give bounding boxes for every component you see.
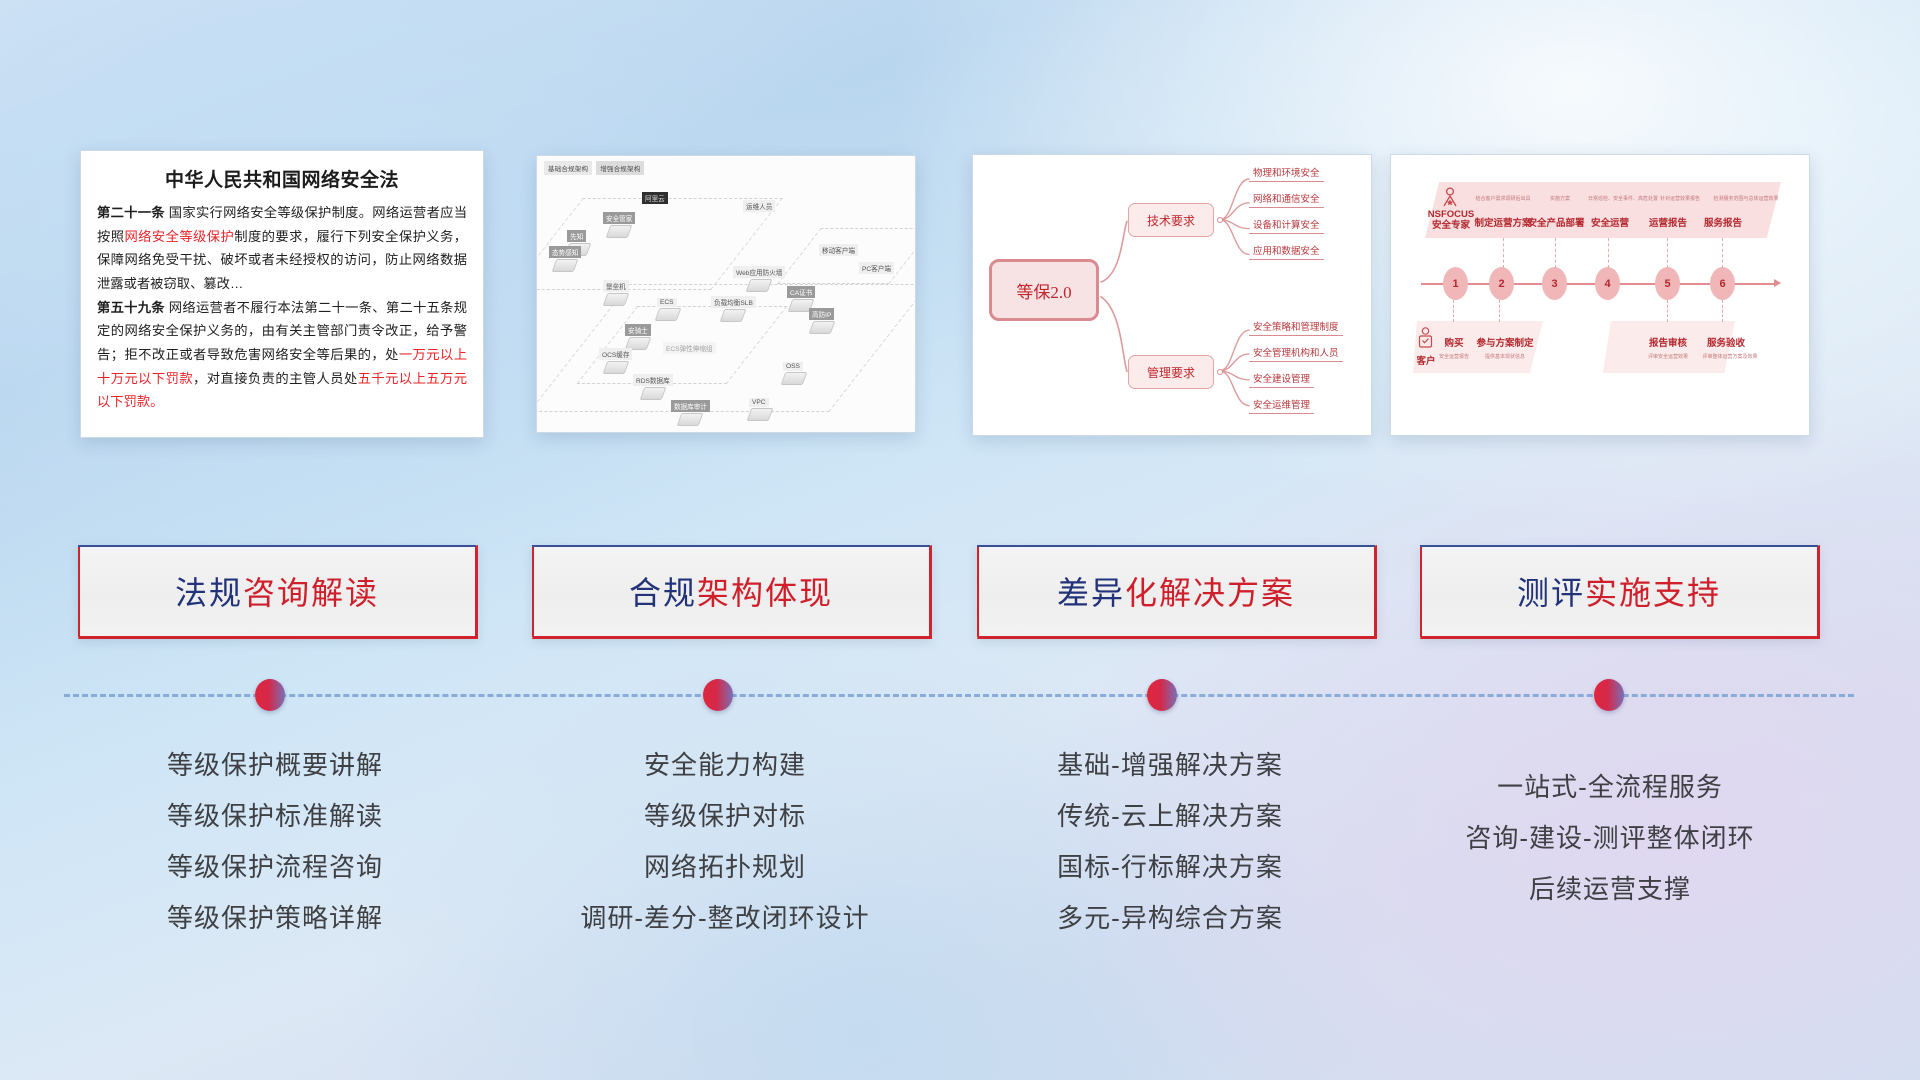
arch-node-pc-client: PC客户端: [859, 262, 894, 274]
nsfocus-dash-c2: [1499, 300, 1500, 322]
arch-tab-basic[interactable]: 基础合规架构: [544, 161, 592, 175]
list-item: 基础-增强解决方案: [950, 740, 1390, 791]
mindmap-diagram: 等保2.0 技术要求 管理要求 物理和环境安全 网络和通信安全 设备和计算安全 …: [973, 155, 1371, 435]
banner-4-red: 实施支持: [1585, 575, 1721, 611]
detail-list-column-4: 一站式-全流程服务 咨询-建设-测评整体闭环 后续运营支撑: [1390, 762, 1830, 915]
banner-1-text: 法规咨询解读: [175, 568, 379, 614]
mindmap-branch-management: 管理要求: [1128, 355, 1214, 389]
nsfocus-diagram: NSFOCUS安全专家 客户 1 2 3 4 5 6: [1391, 155, 1809, 435]
nsfocus-caption-6: 服务报告: [1694, 215, 1752, 229]
nsfocus-customer-caption-2: 参与方案制定: [1467, 335, 1543, 349]
banner-1-blue: 法规: [175, 575, 243, 611]
list-item: 等级保护策略详解: [55, 893, 495, 944]
nsfocus-customer-sub-1: 安全运营报告: [1431, 353, 1477, 360]
arch-node-anqishi: 安骑士: [625, 324, 651, 350]
banner-regulation-consulting[interactable]: 法规咨询解读: [78, 545, 478, 639]
arch-node-slb: 负载均衡SLB: [711, 296, 756, 322]
nsfocus-step-node-4: 4: [1595, 267, 1620, 300]
law-paragraph-2: 第五十九条 网络运营者不履行本法第二十一条、第二十五条规定的网络安全保护义务的，…: [97, 296, 467, 414]
card-cloud-architecture: 基础合规架构 增强合规架构 阿里云 安全管家 先知 态势感知 堡垒机: [536, 155, 916, 433]
detail-list-column-2: 安全能力构建 等级保护对标 网络拓扑规划 调研-差分-整改闭环设计: [505, 740, 945, 944]
law-title: 中华人民共和国网络安全法: [97, 165, 467, 192]
nsfocus-expert-band: [1425, 182, 1781, 238]
card-nsfocus-timeline: NSFOCUS安全专家 客户 1 2 3 4 5 6: [1390, 154, 1810, 436]
mindmap-leaf-t1: 物理和环境安全: [1249, 165, 1324, 182]
nsfocus-dash-2: [1503, 238, 1504, 268]
architecture-diagram: 基础合规架构 增强合规架构 阿里云 安全管家 先知 态势感知 堡垒机: [537, 156, 915, 432]
nsfocus-step-node-1: 1: [1443, 267, 1468, 300]
list-item: 传统-云上解决方案: [950, 791, 1390, 842]
banner-row: 法规咨询解读 合规架构体现 差异化解决方案 测评实施支持: [0, 545, 1920, 655]
banner-compliance-architecture[interactable]: 合规架构体现: [532, 545, 932, 639]
nsfocus-step-node-5: 5: [1655, 267, 1680, 300]
list-item: 等级保护流程咨询: [55, 842, 495, 893]
mindmap-leaf-t4: 应用和数据安全: [1249, 243, 1324, 260]
arch-node-ecs-scaling-group: ECS弹性伸缩组: [663, 342, 716, 354]
list-item: 等级保护标准解读: [55, 791, 495, 842]
law-seg-2-2: ，对直接负责的主管人员处: [193, 371, 358, 386]
timeline-dot-4[interactable]: [1594, 679, 1624, 711]
list-item: 网络拓扑规划: [505, 842, 945, 893]
customer-person-icon: [1417, 327, 1434, 353]
list-item: 一站式-全流程服务: [1390, 762, 1830, 813]
arch-node-mobile-client: 移动客户端: [819, 244, 858, 256]
mindmap-leaf-t3: 设备和计算安全: [1249, 217, 1324, 234]
banner-1-red: 咨询解读: [243, 575, 379, 611]
timeline-dot-1[interactable]: [255, 679, 285, 711]
detail-list-row: 等级保护概要讲解 等级保护标准解读 等级保护流程咨询 等级保护策略详解 安全能力…: [0, 740, 1920, 1040]
law-article-label-1: 第二十一条: [97, 205, 165, 220]
nsfocus-step-node-2: 2: [1489, 267, 1514, 300]
image-card-row: 中华人民共和国网络安全法 第二十一条 国家实行网络安全等级保护制度。网络运营者应…: [0, 150, 1920, 450]
arch-node-situation-awareness: 态势感知: [549, 246, 581, 272]
nsfocus-customer-sub-2: 提供基本现状信息: [1473, 353, 1537, 360]
detail-list-column-3: 基础-增强解决方案 传统-云上解决方案 国标-行标解决方案 多元-异构综合方案: [950, 740, 1390, 944]
nsfocus-axis-arrow-icon: [1774, 279, 1781, 287]
nsfocus-dash-6: [1722, 238, 1723, 268]
list-item: 安全能力构建: [505, 740, 945, 791]
detail-list-column-1: 等级保护概要讲解 等级保护标准解读 等级保护流程咨询 等级保护策略详解: [55, 740, 495, 944]
list-item: 国标-行标解决方案: [950, 842, 1390, 893]
arch-node-bastion-host: 堡垒机: [603, 280, 629, 306]
nsfocus-caption-4: 安全运营: [1581, 215, 1639, 229]
mindmap-collapse-dot-management[interactable]: [1217, 369, 1223, 375]
banner-3-red: 化解决方案: [1125, 575, 1295, 611]
arch-node-cloud: 阿里云: [642, 192, 668, 204]
nsfocus-sub-6: 检测服务范围与总体运营效果: [1691, 195, 1801, 202]
arch-node-ops-staff: 运维人员: [743, 200, 775, 212]
arch-node-vpc: VPC: [749, 398, 771, 421]
law-article-label-2: 第五十九条: [97, 300, 165, 315]
banner-2-blue: 合规: [629, 575, 697, 611]
banner-4-blue: 测评: [1517, 575, 1585, 611]
mindmap-leaf-m2: 安全管理机构和人员: [1249, 345, 1343, 362]
nsfocus-customer-caption-4: 服务验收: [1695, 335, 1757, 349]
law-paragraph-1: 第二十一条 国家实行网络安全等级保护制度。网络运营者应当按照网络安全等级保护制度…: [97, 201, 467, 296]
timeline-dashed-track: [64, 694, 1854, 697]
card-mind-map: 等保2.0 技术要求 管理要求 物理和环境安全 网络和通信安全 设备和计算安全 …: [972, 154, 1372, 436]
nsfocus-caption-5: 运营报告: [1639, 215, 1697, 229]
nsfocus-dash-c4: [1722, 300, 1723, 322]
mindmap-collapse-dot-technical[interactable]: [1217, 217, 1223, 223]
list-item: 调研-差分-整改闭环设计: [505, 893, 945, 944]
nsfocus-dash-c3: [1667, 300, 1668, 322]
architecture-tabs: 基础合规架构 增强合规架构: [544, 161, 644, 175]
timeline-dot-3[interactable]: [1147, 679, 1177, 711]
mindmap-leaf-m4: 安全运维管理: [1249, 397, 1314, 414]
arch-node-security-butler: 安全管家: [603, 212, 635, 238]
arch-node-oss: OSS: [783, 362, 805, 385]
nsfocus-dash-5: [1667, 238, 1668, 268]
banner-3-text: 差异化解决方案: [1057, 568, 1295, 614]
nsfocus-dash-3: [1555, 238, 1556, 268]
nsfocus-customer-sub-4: 评审整体运营方案及效果: [1691, 353, 1769, 360]
list-item: 等级保护对标: [505, 791, 945, 842]
card-law-text: 中华人民共和国网络安全法 第二十一条 国家实行网络安全等级保护制度。网络运营者应…: [80, 150, 484, 438]
arch-node-ecs: ECS: [657, 298, 679, 321]
mindmap-leaf-m3: 安全建设管理: [1249, 371, 1314, 388]
nsfocus-step-node-3: 3: [1542, 267, 1567, 300]
law-seg-1-1: 网络安全等级保护: [124, 229, 234, 244]
list-item: 咨询-建设-测评整体闭环: [1390, 813, 1830, 864]
arch-node-ocs-cache: OCS缓存: [599, 348, 632, 374]
banner-evaluation-support[interactable]: 测评实施支持: [1420, 545, 1820, 639]
timeline-dot-2[interactable]: [703, 679, 733, 711]
nsfocus-customer-caption-3: 报告审核: [1637, 335, 1699, 349]
list-item: 后续运营支撑: [1390, 864, 1830, 915]
list-item: 等级保护概要讲解: [55, 740, 495, 791]
list-item: 多元-异构综合方案: [950, 893, 1390, 944]
banner-3-blue: 差异: [1057, 575, 1125, 611]
arch-tab-enhanced[interactable]: 增强合规架构: [596, 161, 644, 175]
nsfocus-step-node-6: 6: [1710, 267, 1735, 300]
arch-node-rds: RDS数据库: [633, 374, 673, 400]
banner-2-red: 架构体现: [697, 575, 833, 611]
arch-node-waf: Web应用防火墙: [733, 266, 785, 292]
arch-node-db-audit: 数据库审计: [671, 400, 710, 426]
nsfocus-dash-c1: [1453, 300, 1454, 322]
mindmap-leaf-t2: 网络和通信安全: [1249, 191, 1324, 208]
mindmap-leaf-m1: 安全策略和管理制度: [1249, 319, 1343, 336]
banner-differentiated-solution[interactable]: 差异化解决方案: [977, 545, 1377, 639]
nsfocus-dash-4: [1608, 238, 1609, 268]
banner-4-text: 测评实施支持: [1517, 568, 1721, 614]
slide-canvas: 中华人民共和国网络安全法 第二十一条 国家实行网络安全等级保护制度。网络运营者应…: [0, 0, 1920, 1080]
arch-node-anti-ddos-ip: 高防IP: [809, 308, 834, 334]
arch-zone-d: [777, 228, 916, 284]
mindmap-branch-technical: 技术要求: [1128, 203, 1214, 237]
law-content: 中华人民共和国网络安全法 第二十一条 国家实行网络安全等级保护制度。网络运营者应…: [81, 151, 483, 424]
banner-2-text: 合规架构体现: [629, 568, 833, 614]
mindmap-root-node: 等保2.0: [989, 259, 1099, 321]
